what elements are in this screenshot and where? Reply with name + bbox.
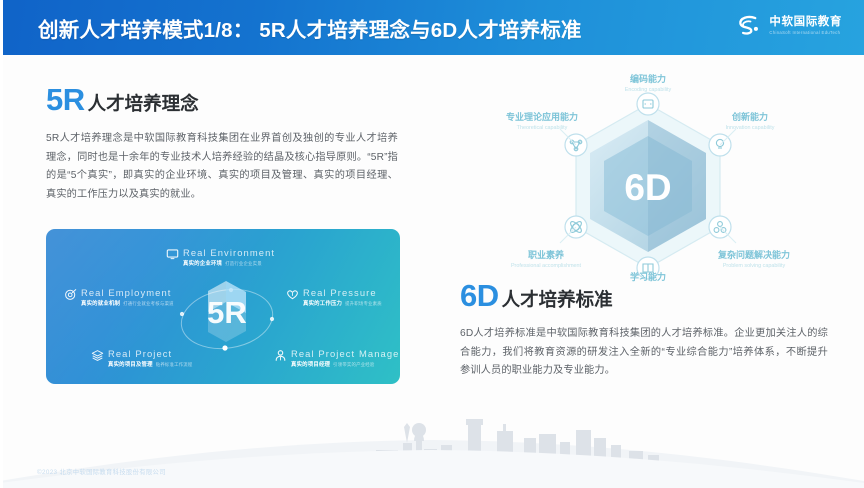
six-d-center-label: 6D bbox=[624, 167, 671, 208]
six-d-hexagon-diagram: 6D bbox=[498, 72, 798, 284]
five-r-item-en: Real Environment bbox=[183, 247, 275, 258]
hex-label-problem-solving-cn: 复杂问题解决能力 bbox=[717, 249, 790, 260]
hex-label-coding-en: Encoding capability bbox=[625, 87, 672, 93]
slide-header: 创新人才培养模式1/8： 5R人才培养理念与6D人才培养标准 中软国际教育 Ch… bbox=[0, 0, 864, 55]
five-r-item-en: Real Employment bbox=[81, 287, 174, 298]
five-r-item-text: Real Pressure 真实的工作压力 提升职场专业素质 bbox=[303, 287, 382, 307]
section-5r-heading-sub: 人才培养理念 bbox=[88, 95, 199, 114]
hex-label-coding-cn: 编码能力 bbox=[630, 73, 666, 84]
logo-name-en: ChinaSoft International EduTech bbox=[769, 29, 842, 36]
five-r-item-cn-line: 真实的项目经理 引领带实的产业经验 bbox=[291, 360, 400, 368]
hex-label-professional-en: Professional accomplishment bbox=[511, 263, 582, 269]
page-title: 创新人才培养模式1/8： 5R人才培养理念与6D人才培养标准 bbox=[38, 13, 582, 43]
logo-name-cn: 中软国际教育 bbox=[769, 16, 842, 29]
five-r-item-cn-line: 真实的就业机制 打通行业就业考核与渠道 bbox=[81, 299, 174, 307]
five-r-item-text: Real Employment 真实的就业机制 打通行业就业考核与渠道 bbox=[81, 287, 174, 307]
section-6d-heading-big: 6D bbox=[460, 280, 499, 311]
section-5r-body: 5R人才培养理念是中软国际教育科技集团在业界首创及独创的专业人才培养理念，同时也… bbox=[46, 130, 398, 204]
five-r-item-cn: 真实的项目及管理 bbox=[108, 360, 153, 368]
hex-label-problem-solving-en: Problem solving capability bbox=[723, 263, 786, 269]
five-r-item-cn: 真实的工作压力 bbox=[303, 299, 342, 307]
five-r-item-desc: 引领带实的产业经验 bbox=[333, 362, 374, 368]
hex-label-theoretical-en: Theoretical capability bbox=[517, 125, 568, 131]
section-6d-heading-sub: 人才培养标准 bbox=[502, 291, 613, 310]
five-r-item-real-project: Real Project 真实的项目及管理 贴养标准工作流程 bbox=[91, 348, 192, 368]
footer-copyright: ©2023 北京中软国际教育科技股份有限公司 bbox=[37, 467, 166, 476]
section-6d: 6D 人才培养标准 6D人才培养标准是中软国际教育科技集团的人才培养标准。企业更… bbox=[460, 280, 830, 381]
five-r-item-desc: 打造行业企业实景 bbox=[225, 261, 262, 267]
six-d-hexagon-svg: 6D bbox=[498, 72, 798, 284]
five-r-item-en: Real Project bbox=[108, 348, 192, 359]
logo-text: 中软国际教育 ChinaSoft International EduTech bbox=[769, 16, 842, 36]
section-5r: 5R 人才培养理念 5R人才培养理念是中软国际教育科技集团在业界首创及独创的专业… bbox=[46, 84, 401, 204]
hex-label-professional-cn: 职业素养 bbox=[528, 249, 564, 260]
five-r-item-cn-line: 真实的项目及管理 贴养标准工作流程 bbox=[108, 360, 192, 368]
five-r-item-en: Real Project Manager bbox=[291, 348, 400, 359]
target-icon bbox=[64, 288, 77, 301]
brand-logo: 中软国际教育 ChinaSoft International EduTech bbox=[735, 12, 842, 39]
five-r-item-real-pressure: Real Pressure 真实的工作压力 提升职场专业素质 bbox=[286, 287, 382, 307]
hex-label-innovation-cn: 创新能力 bbox=[731, 111, 768, 122]
hex-node-coding-circle bbox=[637, 93, 659, 115]
left-edge-strip bbox=[0, 0, 3, 488]
five-r-item-cn: 真实的就业机制 bbox=[81, 299, 120, 307]
hex-label-innovation-en: Innovation capability bbox=[726, 125, 775, 131]
five-r-item-real-project-manager: Real Project Manager 真实的项目经理 引领带实的产业经验 bbox=[274, 348, 400, 368]
five-r-diagram-card: 5R Real Environment 真实的企业环境 打造行业企业实景 bbox=[46, 229, 400, 384]
five-r-item-real-employment: Real Employment 真实的就业机制 打通行业就业考核与渠道 bbox=[64, 287, 174, 307]
five-r-item-text: Real Environment 真实的企业环境 打造行业企业实景 bbox=[183, 247, 275, 267]
slide-canvas: 创新人才培养模式1/8： 5R人才培养理念与6D人才培养标准 中软国际教育 Ch… bbox=[0, 0, 864, 488]
section-5r-heading-big: 5R bbox=[46, 84, 85, 115]
five-r-item-text: Real Project Manager 真实的项目经理 引领带实的产业经验 bbox=[291, 348, 400, 368]
five-r-item-cn: 真实的企业环境 bbox=[183, 259, 222, 267]
five-r-item-cn-line: 真实的工作压力 提升职场专业素质 bbox=[303, 299, 382, 307]
hex-label-theoretical-cn: 专业理论应用能力 bbox=[506, 111, 578, 122]
five-r-item-en: Real Pressure bbox=[303, 287, 382, 298]
five-r-center-label: 5R bbox=[207, 295, 247, 330]
five-r-item-cn: 真实的项目经理 bbox=[291, 360, 330, 368]
monitor-icon bbox=[166, 248, 179, 261]
heart-icon bbox=[286, 288, 299, 301]
five-r-item-desc: 贴养标准工作流程 bbox=[156, 362, 193, 368]
layers-icon bbox=[91, 349, 104, 362]
five-r-item-text: Real Project 真实的项目及管理 贴养标准工作流程 bbox=[108, 348, 192, 368]
person-icon bbox=[274, 349, 287, 362]
section-5r-heading: 5R 人才培养理念 bbox=[46, 84, 401, 115]
section-6d-body: 6D人才培养标准是中软国际教育科技集团的人才培养标准。企业更加关注人的综合能力，… bbox=[460, 325, 828, 381]
five-r-item-cn-line: 真实的企业环境 打造行业企业实景 bbox=[183, 259, 275, 267]
chinasoft-swirl-logo-icon bbox=[735, 12, 762, 39]
five-r-item-desc: 提升职场专业素质 bbox=[345, 301, 382, 307]
five-r-item-real-environment: Real Environment 真实的企业环境 打造行业企业实景 bbox=[166, 247, 275, 267]
section-6d-heading: 6D 人才培养标准 bbox=[460, 280, 830, 311]
five-r-item-desc: 打通行业就业考核与渠道 bbox=[123, 301, 174, 307]
